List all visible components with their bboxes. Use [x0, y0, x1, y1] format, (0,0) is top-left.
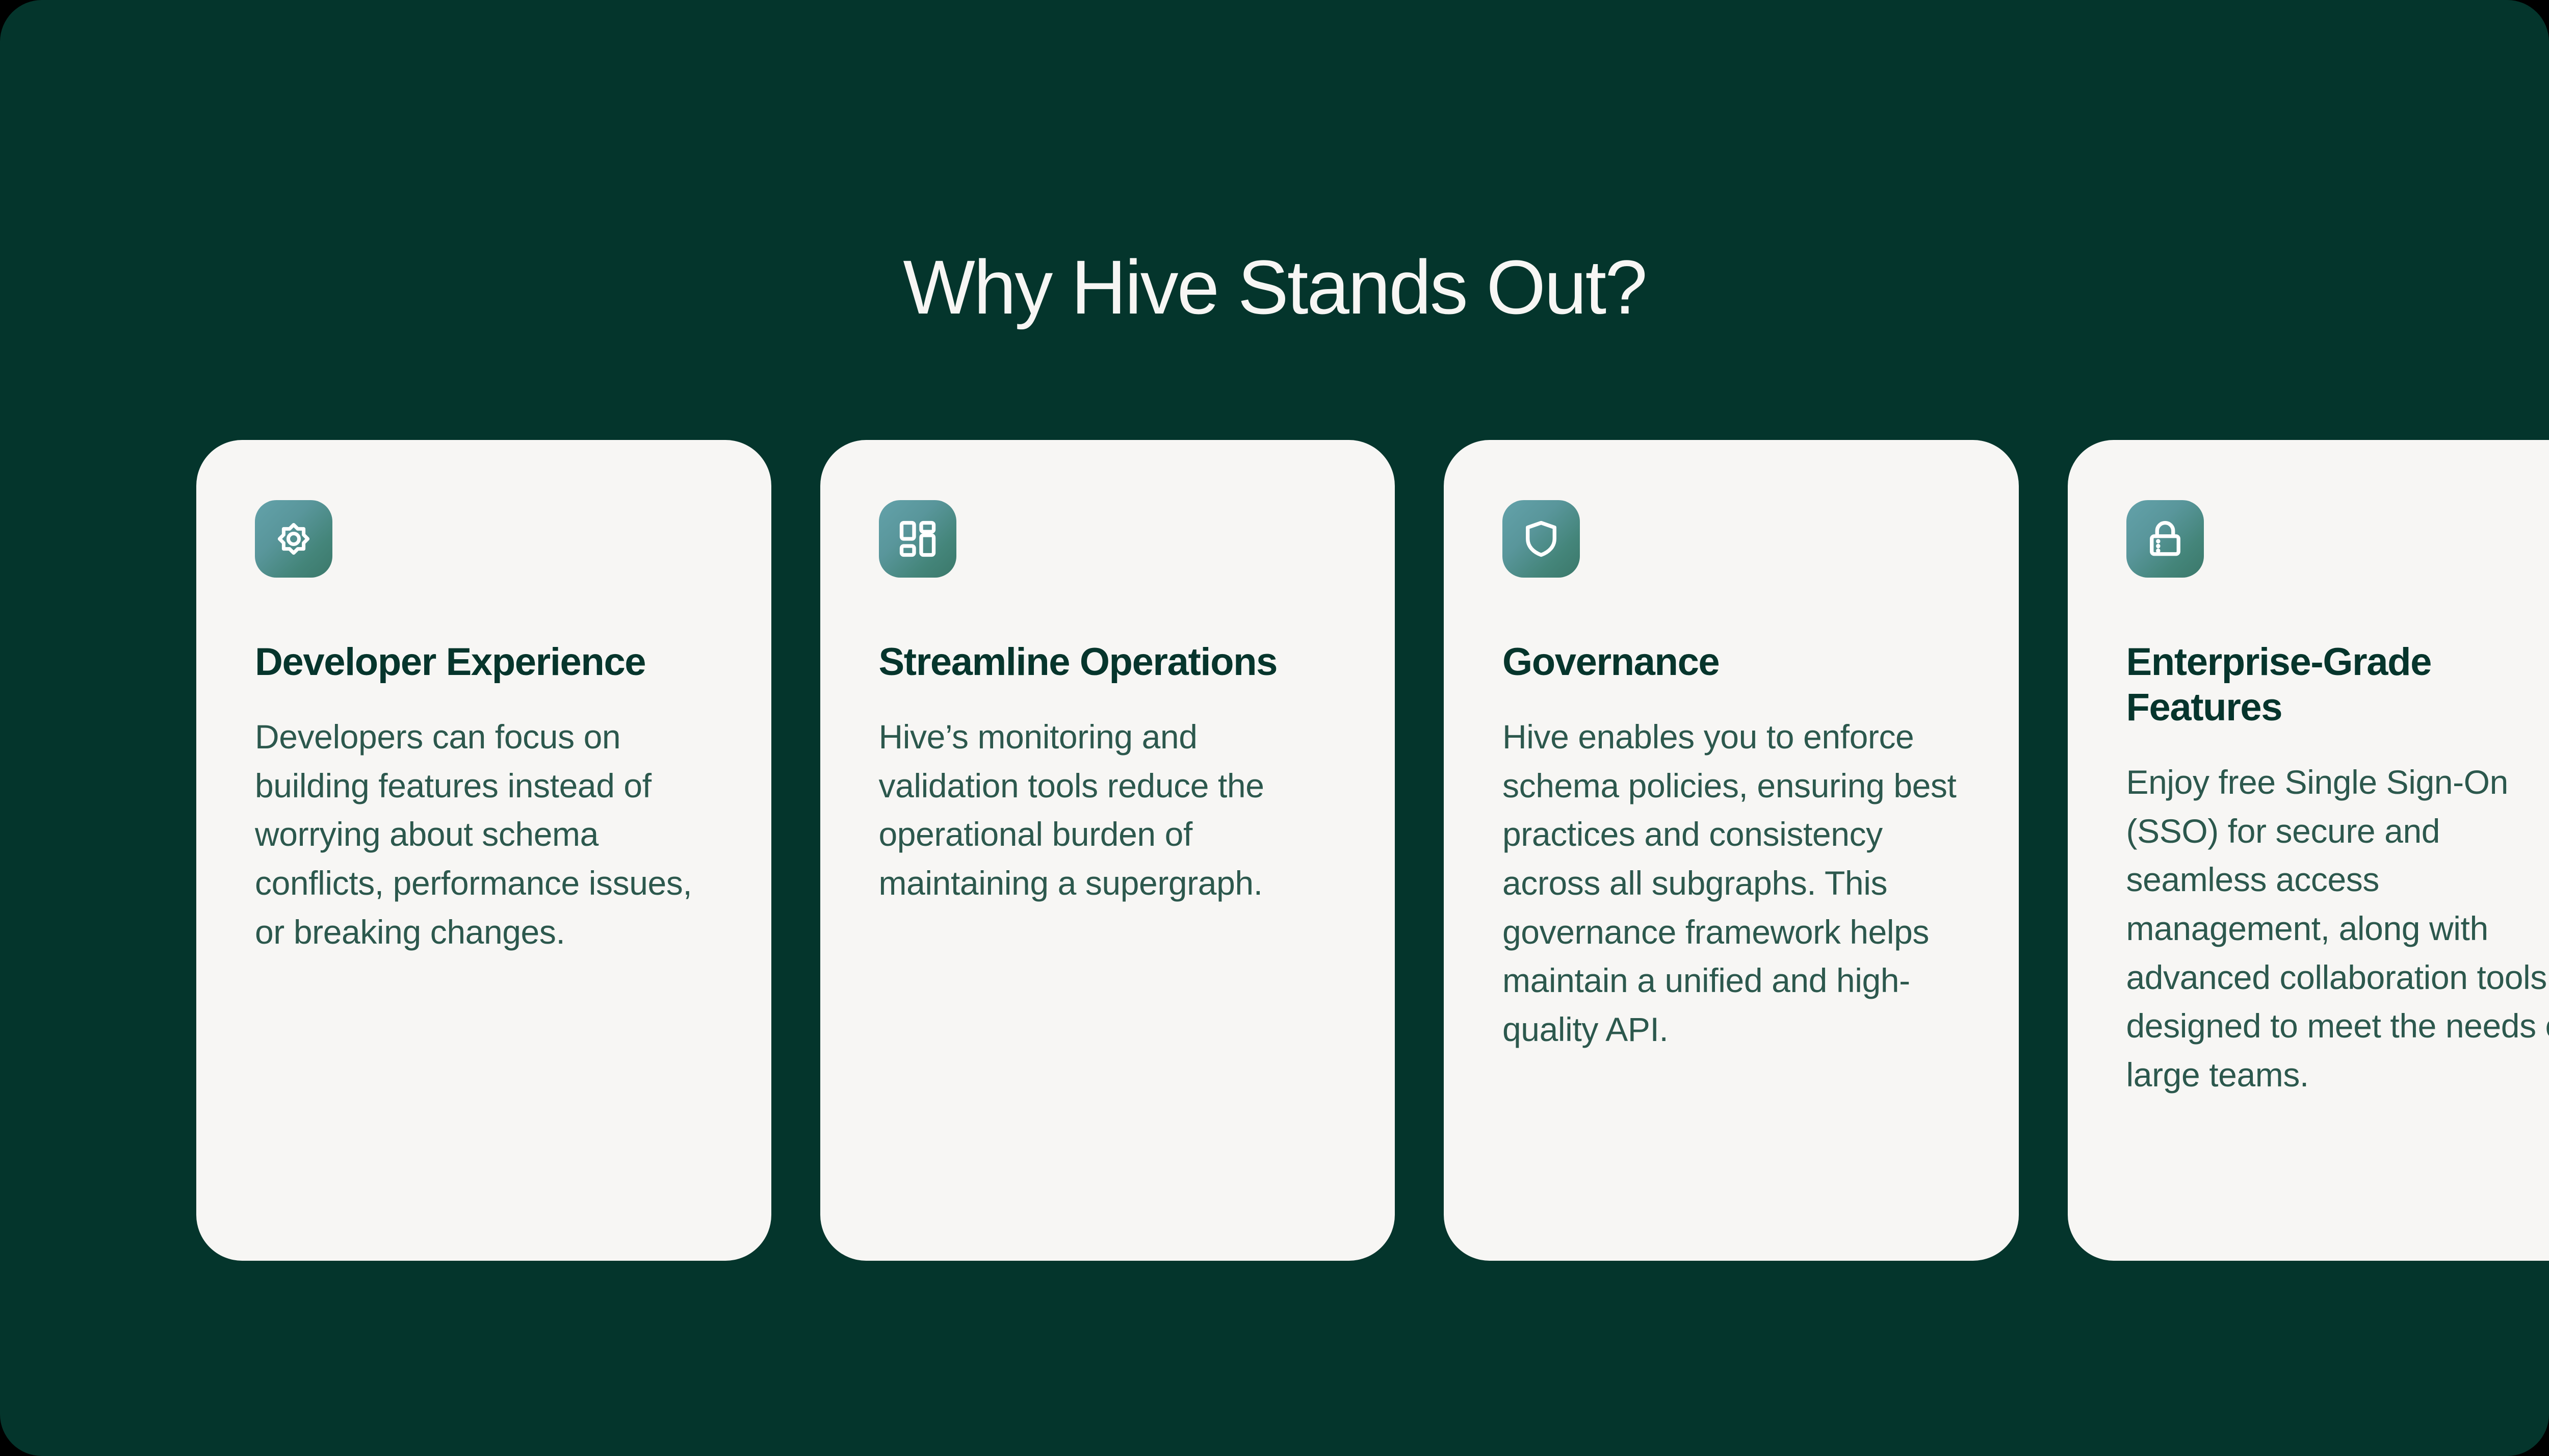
card-title: Governance [1502, 640, 1719, 685]
feature-card[interactable]: Streamline Operations Hive’s monitoring … [820, 440, 1395, 1261]
feature-card-grid: Developer Experience Developers can focu… [196, 440, 2549, 1261]
icon-tile [1502, 500, 1580, 578]
icon-tile [2126, 500, 2204, 578]
feature-card[interactable]: Enterprise-Grade Features Enjoy free Sin… [2068, 440, 2549, 1261]
card-title: Enterprise-Grade Features [2126, 640, 2549, 731]
lock-icon [2144, 517, 2187, 560]
card-title: Streamline Operations [879, 640, 1278, 685]
card-body: Enjoy free Single Sign-On (SSO) for secu… [2126, 758, 2549, 1100]
card-title: Developer Experience [255, 640, 645, 685]
dashboard-grid-icon [896, 517, 939, 560]
feature-card[interactable]: Developer Experience Developers can focu… [196, 440, 771, 1261]
card-body: Developers can focus on building feature… [255, 713, 713, 956]
page-title: Why Hive Stands Out? [0, 245, 2549, 329]
page-root: Why Hive Stands Out? Developer Experienc… [0, 0, 2549, 1456]
icon-tile [879, 500, 956, 578]
card-body: Hive enables you to enforce schema polic… [1502, 713, 1960, 1054]
card-body: Hive’s monitoring and validation tools r… [879, 713, 1337, 908]
feature-card[interactable]: Governance Hive enables you to enforce s… [1444, 440, 2019, 1261]
icon-tile [255, 500, 332, 578]
gear-icon [272, 517, 315, 560]
shield-icon [1520, 517, 1563, 560]
